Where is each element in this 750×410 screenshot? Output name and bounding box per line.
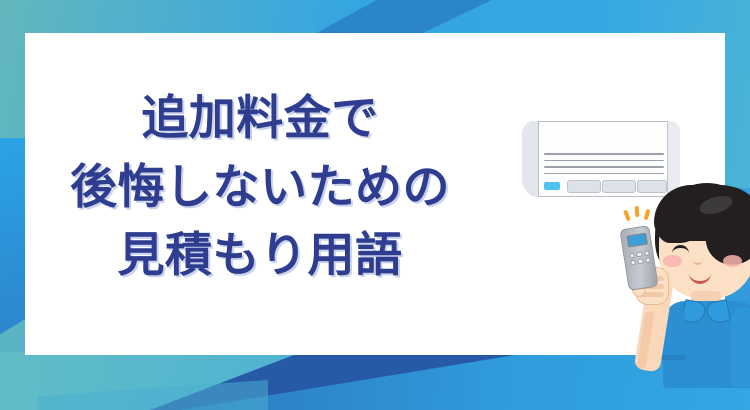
ac-vent-line (544, 160, 664, 162)
remote-control-icon (619, 225, 658, 291)
ac-vent-line (544, 166, 664, 168)
ac-vent-line (544, 173, 664, 175)
remote-button (645, 257, 651, 263)
shirt-highlight (731, 307, 750, 387)
remote-button (638, 258, 644, 264)
beep-mark-icon (623, 210, 631, 222)
ac-indicator-light (544, 182, 560, 190)
ac-vent-line (544, 153, 664, 155)
banner-image: 追加料金で 後悔しないための 見積もり用語 (0, 0, 750, 410)
remote-button (630, 260, 636, 266)
eye-right (714, 245, 731, 257)
remote-button (629, 253, 635, 259)
ac-louver-flap (567, 180, 601, 193)
remote-button (636, 252, 642, 258)
eye-left (672, 245, 689, 257)
page-title: 追加料金で 後悔しないための 見積もり用語 (25, 85, 495, 291)
beep-mark-icon (635, 206, 640, 217)
remote-button (644, 250, 650, 256)
white-content-card: 追加料金で 後悔しないための 見積もり用語 (25, 33, 725, 355)
person-illustration (611, 183, 750, 388)
beep-mark-icon (644, 209, 651, 221)
title-line-3: 見積もり用語 (25, 222, 495, 291)
ac-vent-lines (544, 153, 664, 175)
remote-screen (626, 233, 648, 248)
remote-buttons (629, 250, 651, 265)
title-line-1: 追加料金で (25, 85, 495, 154)
ac-left-cap (522, 121, 539, 197)
title-line-2: 後悔しないための (25, 154, 495, 223)
